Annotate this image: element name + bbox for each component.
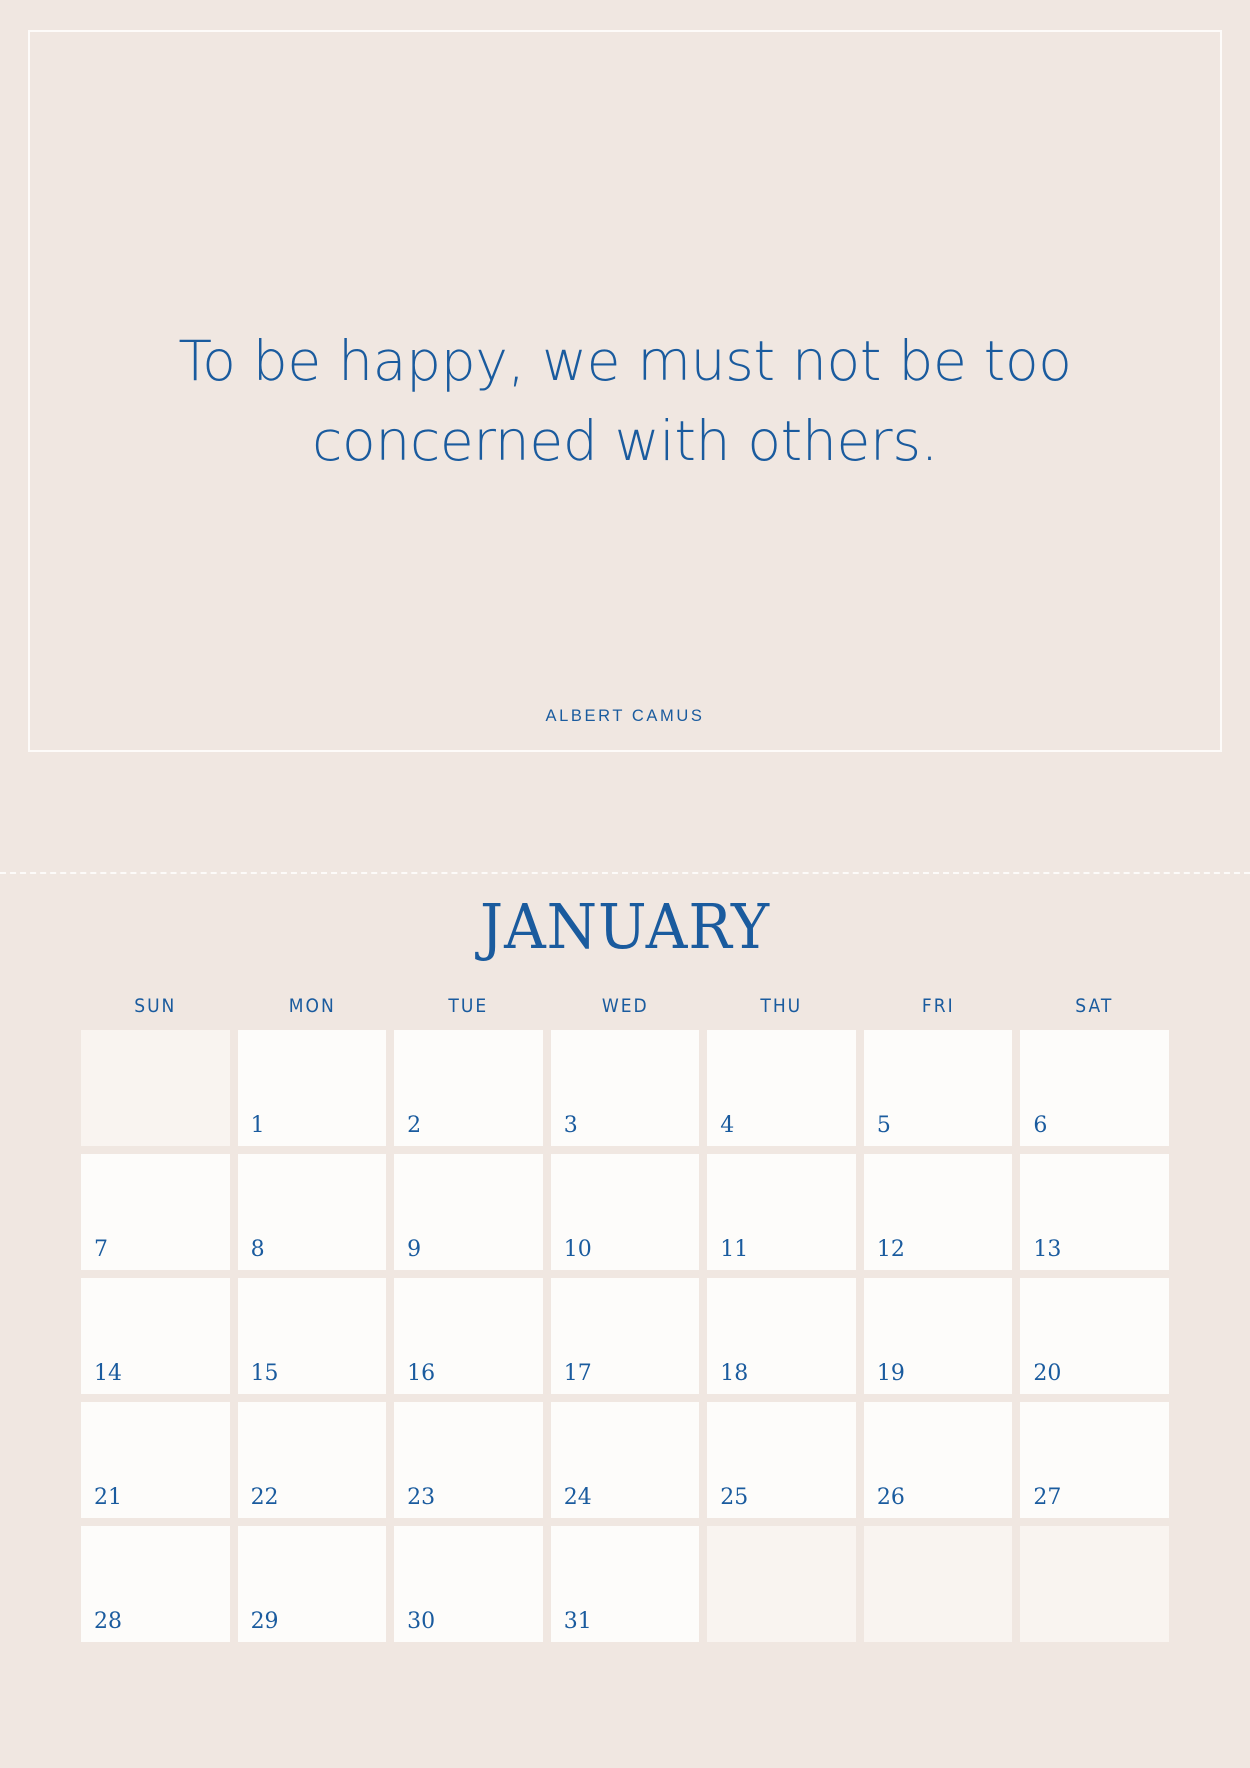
- day-cell[interactable]: 21: [81, 1402, 230, 1518]
- day-number: 2: [407, 1115, 421, 1137]
- day-number: 23: [407, 1487, 435, 1509]
- day-number: 16: [407, 1363, 435, 1385]
- day-number: 27: [1033, 1487, 1061, 1509]
- day-cell-empty: [81, 1030, 230, 1146]
- day-cell-empty: [864, 1526, 1013, 1642]
- day-cell[interactable]: 15: [238, 1278, 387, 1394]
- day-number: 14: [94, 1363, 122, 1385]
- day-number: 6: [1033, 1115, 1047, 1137]
- day-number: 13: [1033, 1239, 1061, 1261]
- calendar: SUNMONTUEWEDTHUFRISAT 123456789101112131…: [81, 995, 1169, 1642]
- day-cell[interactable]: 12: [864, 1154, 1013, 1270]
- day-cell[interactable]: 8: [238, 1154, 387, 1270]
- day-number: 15: [251, 1363, 279, 1385]
- day-cell[interactable]: 30: [394, 1526, 543, 1642]
- day-number: 1: [251, 1115, 265, 1137]
- day-number: 31: [564, 1611, 592, 1633]
- day-number: 11: [720, 1239, 748, 1261]
- day-cell[interactable]: 18: [707, 1278, 856, 1394]
- day-cell[interactable]: 7: [81, 1154, 230, 1270]
- day-grid: 1234567891011121314151617181920212223242…: [81, 1030, 1169, 1642]
- day-cell[interactable]: 2: [394, 1030, 543, 1146]
- day-number: 9: [407, 1239, 421, 1261]
- day-cell[interactable]: 24: [551, 1402, 700, 1518]
- day-number: 25: [720, 1487, 748, 1509]
- day-cell[interactable]: 23: [394, 1402, 543, 1518]
- quote-text: To be happy, we must not be too concerne…: [120, 322, 1130, 482]
- day-number: 18: [720, 1363, 748, 1385]
- weekday-header-sun: SUN: [88, 995, 222, 1017]
- day-number: 8: [251, 1239, 265, 1261]
- weekday-header-mon: MON: [245, 995, 379, 1017]
- weekday-header-fri: FRI: [871, 995, 1005, 1017]
- day-cell[interactable]: 28: [81, 1526, 230, 1642]
- quote-block: To be happy, we must not be too concerne…: [30, 322, 1220, 482]
- quote-panel: To be happy, we must not be too concerne…: [28, 30, 1222, 752]
- day-number: 29: [251, 1611, 279, 1633]
- day-cell[interactable]: 9: [394, 1154, 543, 1270]
- day-number: 5: [877, 1115, 891, 1137]
- day-cell[interactable]: 26: [864, 1402, 1013, 1518]
- day-cell[interactable]: 27: [1020, 1402, 1169, 1518]
- day-cell[interactable]: 10: [551, 1154, 700, 1270]
- day-cell[interactable]: 11: [707, 1154, 856, 1270]
- day-number: 21: [94, 1487, 122, 1509]
- day-number: 26: [877, 1487, 905, 1509]
- day-cell[interactable]: 20: [1020, 1278, 1169, 1394]
- day-cell[interactable]: 6: [1020, 1030, 1169, 1146]
- section-divider: [0, 872, 1250, 874]
- day-number: 20: [1033, 1363, 1061, 1385]
- weekday-header-tue: TUE: [402, 995, 536, 1017]
- day-number: 28: [94, 1611, 122, 1633]
- day-number: 22: [251, 1487, 279, 1509]
- day-number: 19: [877, 1363, 905, 1385]
- day-cell[interactable]: 31: [551, 1526, 700, 1642]
- weekday-header-sat: SAT: [1028, 995, 1162, 1017]
- day-number: 17: [564, 1363, 592, 1385]
- day-cell[interactable]: 29: [238, 1526, 387, 1642]
- day-number: 4: [720, 1115, 734, 1137]
- day-cell[interactable]: 19: [864, 1278, 1013, 1394]
- day-cell-empty: [707, 1526, 856, 1642]
- weekday-header-wed: WED: [558, 995, 692, 1017]
- day-cell-empty: [1020, 1526, 1169, 1642]
- day-cell[interactable]: 25: [707, 1402, 856, 1518]
- weekday-header-thu: THU: [715, 995, 849, 1017]
- day-cell[interactable]: 3: [551, 1030, 700, 1146]
- weekday-header-row: SUNMONTUEWEDTHUFRISAT: [81, 995, 1169, 1017]
- day-number: 7: [94, 1239, 108, 1261]
- quote-attribution: ALBERT CAMUS: [30, 707, 1220, 726]
- day-cell[interactable]: 16: [394, 1278, 543, 1394]
- day-cell[interactable]: 22: [238, 1402, 387, 1518]
- day-number: 12: [877, 1239, 905, 1261]
- day-cell[interactable]: 5: [864, 1030, 1013, 1146]
- day-number: 30: [407, 1611, 435, 1633]
- day-cell[interactable]: 1: [238, 1030, 387, 1146]
- month-title: JANUARY: [44, 896, 1207, 958]
- day-number: 10: [564, 1239, 592, 1261]
- day-cell[interactable]: 17: [551, 1278, 700, 1394]
- day-cell[interactable]: 4: [707, 1030, 856, 1146]
- day-number: 3: [564, 1115, 578, 1137]
- day-number: 24: [564, 1487, 592, 1509]
- day-cell[interactable]: 13: [1020, 1154, 1169, 1270]
- day-cell[interactable]: 14: [81, 1278, 230, 1394]
